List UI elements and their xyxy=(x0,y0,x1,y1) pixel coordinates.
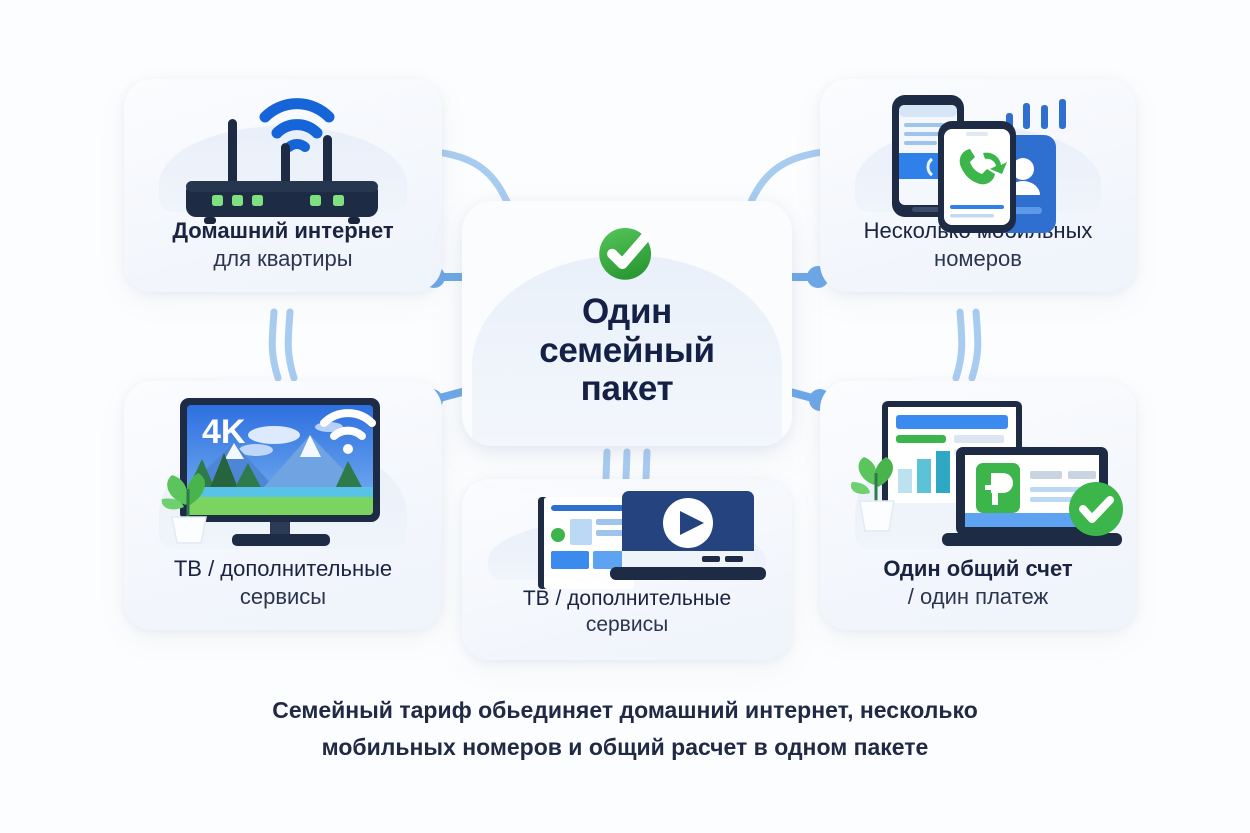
link-center-dash-c xyxy=(646,452,647,478)
wifi-router-icon xyxy=(124,81,442,231)
card-label-line2: для квартиры xyxy=(138,245,428,272)
center-title: Один семейный пакет xyxy=(539,293,715,409)
card-label-line2: сервисы xyxy=(476,612,778,638)
mobile-numbers-illustration xyxy=(820,79,1136,217)
card-home-internet[interactable]: Домашний интернет для квартиры xyxy=(124,79,442,292)
media-illustration xyxy=(462,479,792,586)
link-right-vertical-a xyxy=(956,312,962,378)
card-label-line2: сервисы xyxy=(138,583,428,610)
center-title-line1: Один xyxy=(539,293,715,332)
card-label: ТВ / дополнительные сервисы xyxy=(124,555,442,630)
center-title-line3: пакет xyxy=(539,370,715,409)
card-label: ТВ / дополнительные сервисы xyxy=(462,586,792,660)
infographic-canvas: Домашний интернет для квартиры xyxy=(0,0,1250,833)
television-4k-icon: 4K xyxy=(124,387,442,555)
tv-4k-badge: 4K xyxy=(202,413,246,451)
video-player-laptop-icon xyxy=(462,485,792,597)
link-center-dash-b xyxy=(626,452,627,478)
link-left-vertical-b xyxy=(288,312,294,378)
caption-line1: Семейный тариф обьединяет домашний интер… xyxy=(0,692,1250,729)
tv-illustration: 4K xyxy=(124,381,442,555)
card-label-line1: Один общий счет xyxy=(834,555,1122,582)
card-center-family-package[interactable]: Один семейный пакет xyxy=(462,201,792,446)
billing-dashboard-icon xyxy=(820,389,1136,557)
caption: Семейный тариф обьединяет домашний интер… xyxy=(0,692,1250,767)
card-media-services[interactable]: ТВ / дополнительные сервисы xyxy=(462,479,792,660)
center-title-line2: семейный xyxy=(539,332,715,371)
card-label-line2: номеров xyxy=(834,245,1122,272)
card-label: Один общий счет / один платеж xyxy=(820,555,1136,630)
currency-icon xyxy=(976,463,1020,513)
card-label-line1: ТВ / дополнительные xyxy=(138,555,428,582)
card-tv-services[interactable]: 4K ТВ / до xyxy=(124,381,442,630)
multiple-phones-icon xyxy=(820,83,1136,233)
billing-illustration xyxy=(820,381,1136,555)
link-center-dash-a xyxy=(606,452,607,478)
home-internet-illustration xyxy=(124,79,442,217)
link-right-vertical-b xyxy=(972,312,978,378)
caption-line2: мобильных номеров и общий расчет в одном… xyxy=(0,729,1250,766)
card-label-line2: / один платеж xyxy=(834,583,1122,610)
link-left-vertical-a xyxy=(272,312,278,378)
card-single-bill[interactable]: Один общий счет / один платеж xyxy=(820,381,1136,630)
card-mobile-numbers[interactable]: Несколько мобильных номеров xyxy=(820,79,1136,292)
green-check-badge-icon xyxy=(590,215,664,289)
